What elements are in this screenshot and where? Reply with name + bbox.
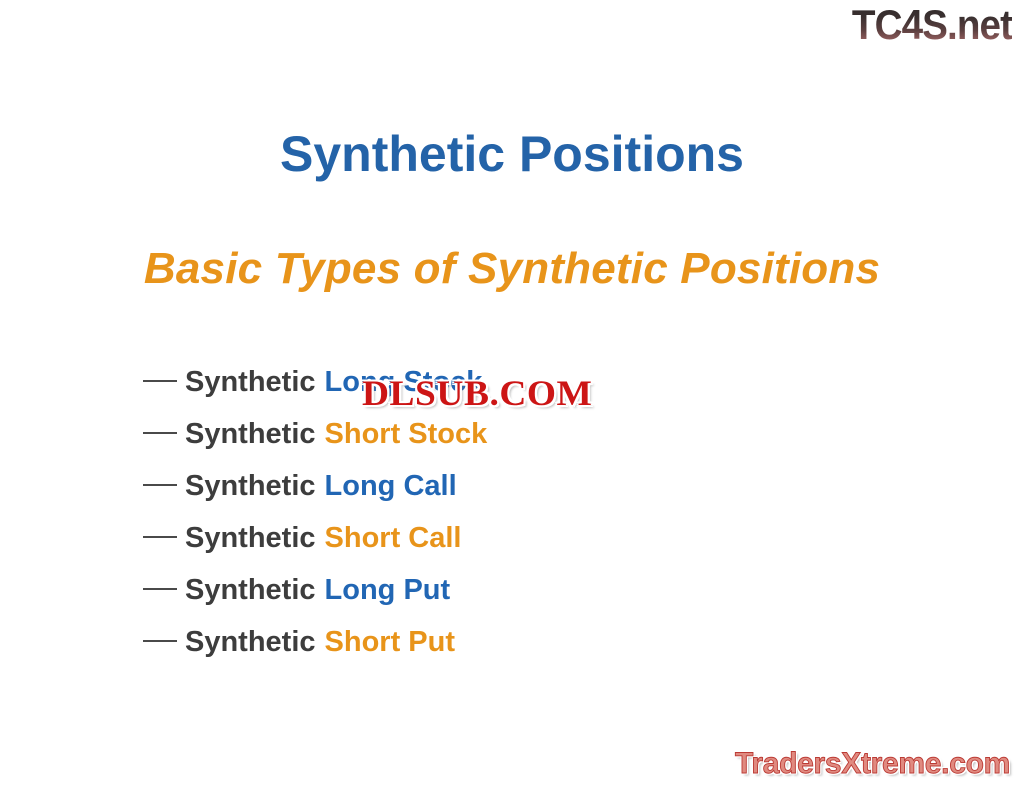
list-item-term: Long Call xyxy=(325,460,457,512)
list-item-prefix: Synthetic xyxy=(185,356,316,408)
watermark-dlsub: DLSUB.COM xyxy=(362,373,592,413)
footer-logo-tradersxtreme: TradersXtreme.com xyxy=(735,747,1010,781)
list-item-prefix: Synthetic xyxy=(185,616,316,668)
list-item: Synthetic Short Call xyxy=(143,512,863,564)
list-item-prefix: Synthetic xyxy=(185,460,316,512)
list-item-prefix: Synthetic xyxy=(185,408,316,460)
list-item-term: Short Put xyxy=(325,616,456,668)
em-dash-bullet-icon xyxy=(143,380,177,382)
list-item-term: Short Call xyxy=(325,512,462,564)
list-item-term: Short Stock xyxy=(325,408,488,460)
list-item: Synthetic Short Put xyxy=(143,616,863,668)
em-dash-bullet-icon xyxy=(143,588,177,590)
em-dash-bullet-icon xyxy=(143,640,177,642)
list-item: Synthetic Short Stock xyxy=(143,408,863,460)
em-dash-bullet-icon xyxy=(143,536,177,538)
page-title: Synthetic Positions xyxy=(0,125,1024,183)
slide-canvas: TC4S.net Synthetic Positions Basic Types… xyxy=(0,0,1024,791)
list-item-prefix: Synthetic xyxy=(185,564,316,616)
em-dash-bullet-icon xyxy=(143,484,177,486)
em-dash-bullet-icon xyxy=(143,432,177,434)
section-subtitle: Basic Types of Synthetic Positions xyxy=(0,243,1024,295)
list-item: Synthetic Long Call xyxy=(143,460,863,512)
site-logo-tc4s: TC4S.net xyxy=(852,2,1012,48)
list-item-term: Long Put xyxy=(325,564,451,616)
list-item-prefix: Synthetic xyxy=(185,512,316,564)
list-item: Synthetic Long Put xyxy=(143,564,863,616)
